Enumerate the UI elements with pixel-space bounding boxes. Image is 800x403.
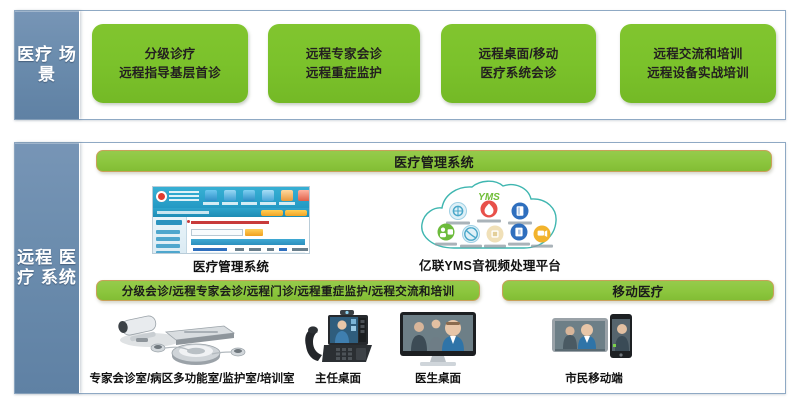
device-desk-video-phone-caption: 主任桌面 (315, 370, 361, 386)
yms-cloud-svg: YMS (402, 178, 578, 254)
toolbar-icon-3[interactable] (243, 190, 255, 201)
scenario-card-2-label: 远程专家会诊 远程重症监护 (306, 45, 382, 81)
scenario-card-4-label: 远程交流和培训 远程设备实战培训 (647, 45, 749, 81)
software-nav-item[interactable] (156, 237, 180, 241)
software-page-title (191, 221, 269, 224)
software-search-input[interactable] (191, 229, 243, 236)
device-conference-room-endpoint-caption: 专家会诊室/病区多功能室/监护室/培训室 (89, 370, 294, 386)
software-breadcrumb-text (157, 211, 209, 214)
scenario-card-3-label: 远程桌面/移动 医疗系统会诊 (479, 45, 559, 81)
toolbar-label-2 (222, 202, 238, 205)
bullet-icon (187, 220, 190, 223)
software-nav-item[interactable] (156, 230, 180, 234)
software-logo-text (169, 191, 199, 202)
mobile-health-bar[interactable]: 移动医疗 (502, 280, 774, 301)
toolbar-icon-4[interactable] (262, 190, 274, 201)
sidebar-label-scenario-text: 医疗 场景 (15, 45, 79, 85)
toolbar-label-1 (203, 202, 219, 205)
scenario-card-1-label: 分级诊疗 远程指导基层首诊 (119, 45, 221, 81)
device-citizen-mobile[interactable]: 市民移动端 (546, 310, 642, 390)
toolbar-label-3 (241, 202, 257, 205)
software-side-nav (153, 217, 187, 253)
software-table-row[interactable] (191, 247, 305, 253)
management-software-screenshot[interactable] (152, 186, 310, 254)
device-desk-video-phone[interactable]: 主任桌面 (296, 310, 380, 390)
management-system-caption: 医疗管理系统 (152, 256, 310, 275)
toolbar-icon-2[interactable] (224, 190, 236, 201)
toolbar-label-5 (279, 202, 295, 205)
software-table-header (191, 239, 305, 245)
software-breadcrumb-bar (153, 208, 309, 217)
sidebar-label-scenario: 医疗 场景 (15, 11, 80, 119)
yms-platform-caption: 亿联YMS音视频处理平台 (392, 255, 588, 274)
hospital-logo-icon (156, 191, 167, 202)
device-conference-room-endpoint[interactable]: 专家会诊室/病区多功能室/监护室/培训室 (92, 310, 292, 390)
software-titlebar (153, 187, 309, 208)
scenario-card-1[interactable]: 分级诊疗 远程指导基层首诊 (92, 24, 248, 103)
toolbar-icon-5[interactable] (281, 190, 293, 201)
consultation-services-bar[interactable]: 分级会诊/远程专家会诊/远程门诊/远程重症监护/远程交流和培训 (96, 280, 480, 301)
toolbar-icon-1[interactable] (205, 190, 217, 201)
software-search-button[interactable] (245, 229, 263, 236)
scenario-card-2[interactable]: 远程专家会诊 远程重症监护 (268, 24, 420, 103)
mobile-health-bar-label: 移动医疗 (612, 281, 663, 300)
software-nav-item[interactable] (156, 244, 180, 248)
sidebar-label-telemedicine-system-text: 远程 医疗 系统 (15, 248, 79, 288)
citizen-mobile-device-icon (546, 310, 642, 368)
doctor-desktop-monitor-icon (390, 310, 486, 368)
diagram-canvas: 医疗 场景 分级诊疗 远程指导基层首诊 远程专家会诊 远程重症监护 远程桌面/移… (0, 0, 800, 403)
management-system-bar[interactable]: 医疗管理系统 (96, 150, 772, 172)
toolbar-label-4 (260, 202, 276, 205)
software-window (152, 186, 310, 254)
scenario-card-3[interactable]: 远程桌面/移动 医疗系统会诊 (441, 24, 596, 103)
device-citizen-mobile-caption: 市民移动端 (565, 370, 623, 386)
software-content-area (187, 217, 309, 253)
software-action-button-2[interactable] (285, 210, 307, 216)
consultation-services-bar-label: 分级会诊/远程专家会诊/远程门诊/远程重症监护/远程交流和培训 (122, 283, 455, 299)
toolbar-icon-6[interactable] (298, 190, 310, 201)
software-nav-item[interactable] (156, 251, 180, 254)
desk-video-phone-icon (296, 310, 380, 368)
management-system-bar-label: 医疗管理系统 (394, 152, 474, 171)
software-nav-header (156, 220, 182, 225)
device-doctor-desktop-monitor[interactable]: 医生桌面 (390, 310, 486, 390)
scenario-card-4[interactable]: 远程交流和培训 远程设备实战培训 (620, 24, 776, 103)
sidebar-label-telemedicine-system: 远程 医疗 系统 (15, 143, 80, 393)
conference-room-endpoint-icon (92, 310, 292, 368)
yms-cloud-graphic: YMS (402, 178, 578, 254)
device-doctor-desktop-monitor-caption: 医生桌面 (415, 370, 461, 386)
software-action-button-1[interactable] (261, 210, 283, 216)
